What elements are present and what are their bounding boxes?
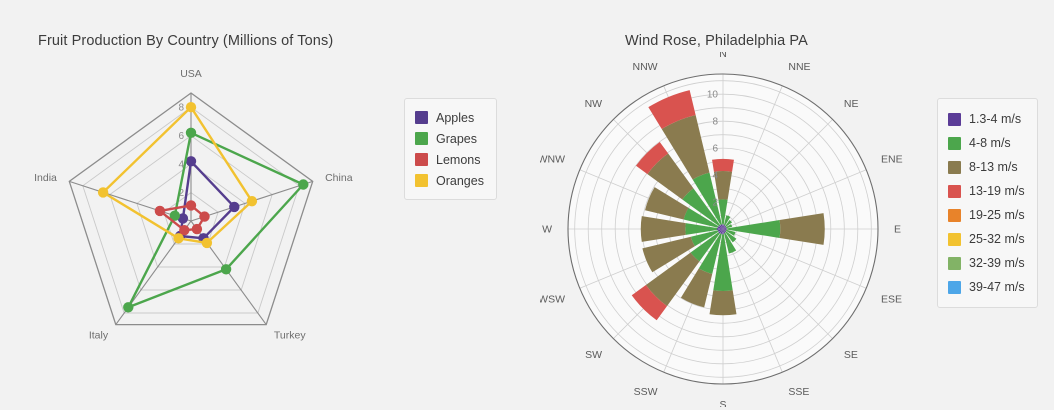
windrose-direction-label: N bbox=[719, 52, 727, 60]
radar-data-point[interactable] bbox=[98, 187, 108, 197]
windrose-sector[interactable] bbox=[710, 290, 737, 315]
windrose-direction-label: S bbox=[719, 399, 726, 407]
radar-legend-swatch bbox=[415, 174, 428, 187]
windrose-direction-label: ENE bbox=[881, 154, 903, 166]
windrose-direction-label: NNW bbox=[633, 61, 658, 73]
windrose-direction-label: SSE bbox=[788, 386, 809, 398]
radar-legend-label: Apples bbox=[436, 111, 474, 125]
radar-series-line bbox=[180, 161, 234, 238]
windrose-legend-item[interactable]: 13-19 m/s bbox=[948, 179, 1025, 203]
windrose-legend-swatch bbox=[948, 281, 961, 294]
windrose-legend-label: 1.3-4 m/s bbox=[969, 112, 1021, 126]
radar-legend: ApplesGrapesLemonsOranges bbox=[404, 98, 497, 200]
windrose-direction-label: NW bbox=[585, 98, 603, 110]
windrose-legend-swatch bbox=[948, 233, 961, 246]
radar-data-point[interactable] bbox=[192, 224, 202, 234]
radar-data-point[interactable] bbox=[202, 238, 212, 248]
windrose-direction-label: SW bbox=[585, 349, 602, 361]
radar-data-point[interactable] bbox=[229, 202, 239, 212]
windrose-radial-tick: 6 bbox=[712, 144, 718, 155]
radar-legend-label: Grapes bbox=[436, 132, 477, 146]
radar-legend-label: Oranges bbox=[436, 174, 484, 188]
windrose-radial-tick: 10 bbox=[707, 90, 719, 101]
windrose-direction-label: NE bbox=[844, 98, 859, 110]
radar-data-point[interactable] bbox=[186, 200, 196, 210]
windrose-legend-label: 39-47 m/s bbox=[969, 280, 1025, 294]
windrose-radial-tick: 2 bbox=[712, 198, 718, 209]
windrose-legend-swatch bbox=[948, 161, 961, 174]
radar-chart-title: Fruit Production By Country (Millions of… bbox=[38, 33, 333, 49]
windrose-radial-tick: 8 bbox=[712, 117, 718, 128]
windrose-direction-label: SSW bbox=[634, 386, 658, 398]
radar-axis-label: India bbox=[34, 172, 57, 184]
windrose-chart-title: Wind Rose, Philadelphia PA bbox=[625, 33, 808, 49]
windrose-legend-label: 8-13 m/s bbox=[969, 160, 1018, 174]
radar-data-point[interactable] bbox=[221, 264, 231, 274]
radar-radial-tick: 6 bbox=[178, 131, 184, 142]
radar-data-point[interactable] bbox=[173, 233, 183, 243]
windrose-chart-plot: 246810NNNENEENEEESESESSESSSWSWWSWWWNWNWN… bbox=[540, 52, 940, 407]
windrose-legend-swatch bbox=[948, 113, 961, 126]
windrose-legend-label: 13-19 m/s bbox=[969, 184, 1025, 198]
windrose-legend-label: 25-32 m/s bbox=[969, 232, 1025, 246]
windrose-legend-item[interactable]: 19-25 m/s bbox=[948, 203, 1025, 227]
windrose-direction-label: W bbox=[542, 224, 552, 236]
windrose-legend-label: 32-39 m/s bbox=[969, 256, 1025, 270]
windrose-legend-swatch bbox=[948, 185, 961, 198]
windrose-legend-item[interactable]: 1.3-4 m/s bbox=[948, 107, 1025, 131]
radar-data-point[interactable] bbox=[155, 206, 165, 216]
windrose-legend-swatch bbox=[948, 257, 961, 270]
radar-data-point[interactable] bbox=[199, 211, 209, 221]
windrose-legend-item[interactable]: 32-39 m/s bbox=[948, 251, 1025, 275]
radar-data-point[interactable] bbox=[186, 128, 196, 138]
windrose-direction-label: SE bbox=[844, 349, 858, 361]
windrose-direction-label: WNW bbox=[540, 154, 565, 166]
radar-data-point[interactable] bbox=[298, 179, 308, 189]
radar-chart-plot: 2468USAChinaTurkeyItalyIndia bbox=[0, 55, 400, 405]
radar-axis-label: China bbox=[325, 172, 353, 184]
radar-legend-item[interactable]: Grapes bbox=[415, 128, 484, 149]
windrose-legend-item[interactable]: 8-13 m/s bbox=[948, 155, 1025, 179]
windrose-direction-label: WSW bbox=[540, 293, 565, 305]
radar-axis-label: Turkey bbox=[274, 330, 306, 342]
windrose-direction-label: ESE bbox=[881, 293, 902, 305]
radar-series-line bbox=[103, 107, 252, 243]
windrose-direction-label: NNE bbox=[788, 61, 810, 73]
radar-legend-item[interactable]: Oranges bbox=[415, 170, 484, 191]
radar-data-point[interactable] bbox=[186, 102, 196, 112]
windrose-legend-item[interactable]: 25-32 m/s bbox=[948, 227, 1025, 251]
windrose-chart-panel: Wind Rose, Philadelphia PA 246810NNNENEE… bbox=[520, 0, 1054, 410]
windrose-radial-tick: 4 bbox=[712, 171, 718, 182]
windrose-legend-item[interactable]: 4-8 m/s bbox=[948, 131, 1025, 155]
radar-axis-label: USA bbox=[180, 68, 202, 80]
windrose-direction-label: E bbox=[894, 224, 901, 236]
radar-legend-label: Lemons bbox=[436, 153, 480, 167]
windrose-legend-label: 4-8 m/s bbox=[969, 136, 1011, 150]
windrose-legend-swatch bbox=[948, 209, 961, 222]
windrose-legend-item[interactable]: 39-47 m/s bbox=[948, 275, 1025, 299]
radar-legend-swatch bbox=[415, 111, 428, 124]
radar-data-point[interactable] bbox=[247, 196, 257, 206]
windrose-legend-swatch bbox=[948, 137, 961, 150]
radar-chart-panel: Fruit Production By Country (Millions of… bbox=[0, 0, 520, 410]
radar-legend-swatch bbox=[415, 132, 428, 145]
radar-radial-tick: 8 bbox=[178, 103, 184, 114]
radar-axis-label: Italy bbox=[89, 330, 109, 342]
windrose-legend: 1.3-4 m/s4-8 m/s8-13 m/s13-19 m/s19-25 m… bbox=[937, 98, 1038, 308]
radar-legend-swatch bbox=[415, 153, 428, 166]
radar-legend-item[interactable]: Lemons bbox=[415, 149, 484, 170]
radar-data-point[interactable] bbox=[123, 302, 133, 312]
radar-legend-item[interactable]: Apples bbox=[415, 107, 484, 128]
windrose-legend-label: 19-25 m/s bbox=[969, 208, 1025, 222]
